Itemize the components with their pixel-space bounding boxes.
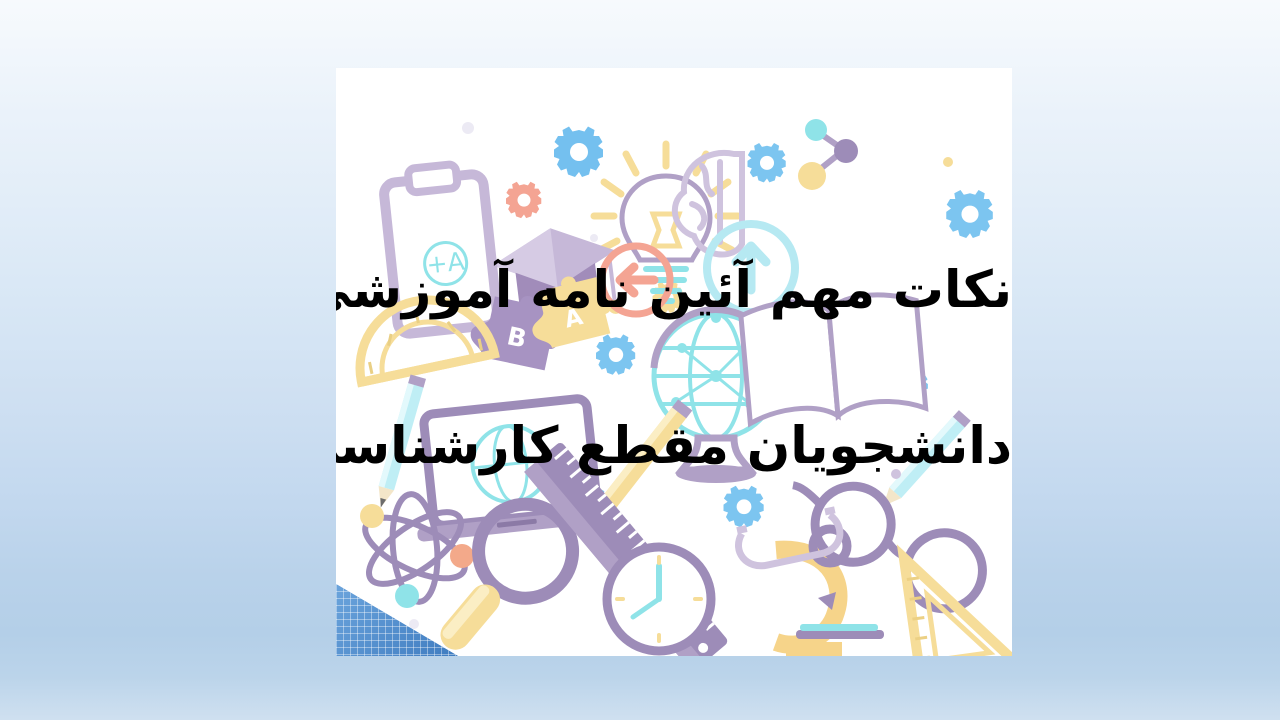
glasses-right-lens	[900, 527, 988, 615]
slide-title-line-2: دانشجویان مقطع کارشناسی	[336, 420, 1012, 474]
atom-nucleus-orange	[450, 544, 474, 568]
clock-ticks	[617, 557, 701, 641]
microscope-icon	[765, 529, 884, 656]
gear-icon-blue-5	[567, 488, 612, 534]
molecule-icon	[798, 119, 858, 190]
presentation-slide: A+	[0, 0, 1280, 720]
laptop-base	[417, 507, 617, 542]
test-tube-icon	[735, 510, 844, 570]
slide-content-card: A+	[336, 68, 1012, 656]
clock-face	[607, 547, 711, 651]
flask-body	[736, 514, 844, 571]
microscope-base	[765, 642, 866, 656]
molecule-atom-cyan	[805, 119, 827, 141]
molecule-atom-yellow	[798, 162, 826, 190]
microscope-eyepiece	[813, 529, 847, 563]
gear-icon-blue-1	[554, 127, 603, 178]
gear-icon-blue-3	[946, 190, 993, 238]
microscope-stage	[796, 630, 884, 639]
clock-minute-hand	[633, 599, 659, 617]
atom-nucleus-yellow	[360, 504, 384, 528]
microscope-slide	[800, 624, 878, 631]
gear-icon-salmon	[506, 182, 541, 218]
set-square-icon	[904, 544, 1012, 656]
glasses-bridge	[884, 540, 910, 558]
glasses-left-lens	[809, 480, 897, 568]
atom-nucleus-cyan	[395, 584, 419, 608]
clock-icon	[607, 547, 711, 651]
microscope-arm	[776, 550, 839, 645]
molecule-atom-purple	[834, 139, 858, 163]
checkered-triangle-decoration	[336, 584, 458, 656]
ruler-hole	[696, 641, 710, 655]
brain-icon	[675, 153, 742, 255]
slide-title-line-1: نکات مهم آئین نامه آموزشی	[336, 264, 1012, 318]
set-square-ticks	[907, 578, 930, 656]
lightbulb-glass	[622, 176, 710, 260]
magnifier-icon	[410, 485, 592, 656]
set-square-body	[904, 544, 1012, 656]
glasses-icon	[776, 475, 993, 614]
glasses-temple	[791, 485, 823, 504]
pencil-tip	[586, 500, 614, 528]
magnifier-handle	[434, 578, 506, 656]
atom-icon	[357, 492, 474, 608]
slide-title: نکات مهم آئین نامه آموزشی دانشجویان مقطع…	[336, 264, 1012, 474]
lightbulb-filament	[653, 214, 679, 246]
magnifier-lens	[459, 485, 591, 617]
microscope-lens	[818, 592, 836, 610]
gear-icon-blue-2	[748, 143, 786, 182]
gear-icon-blue-6	[724, 486, 764, 527]
ruler-ticks	[555, 449, 714, 634]
lightbulb-rays	[594, 144, 738, 250]
clipboard-clip	[408, 164, 458, 193]
